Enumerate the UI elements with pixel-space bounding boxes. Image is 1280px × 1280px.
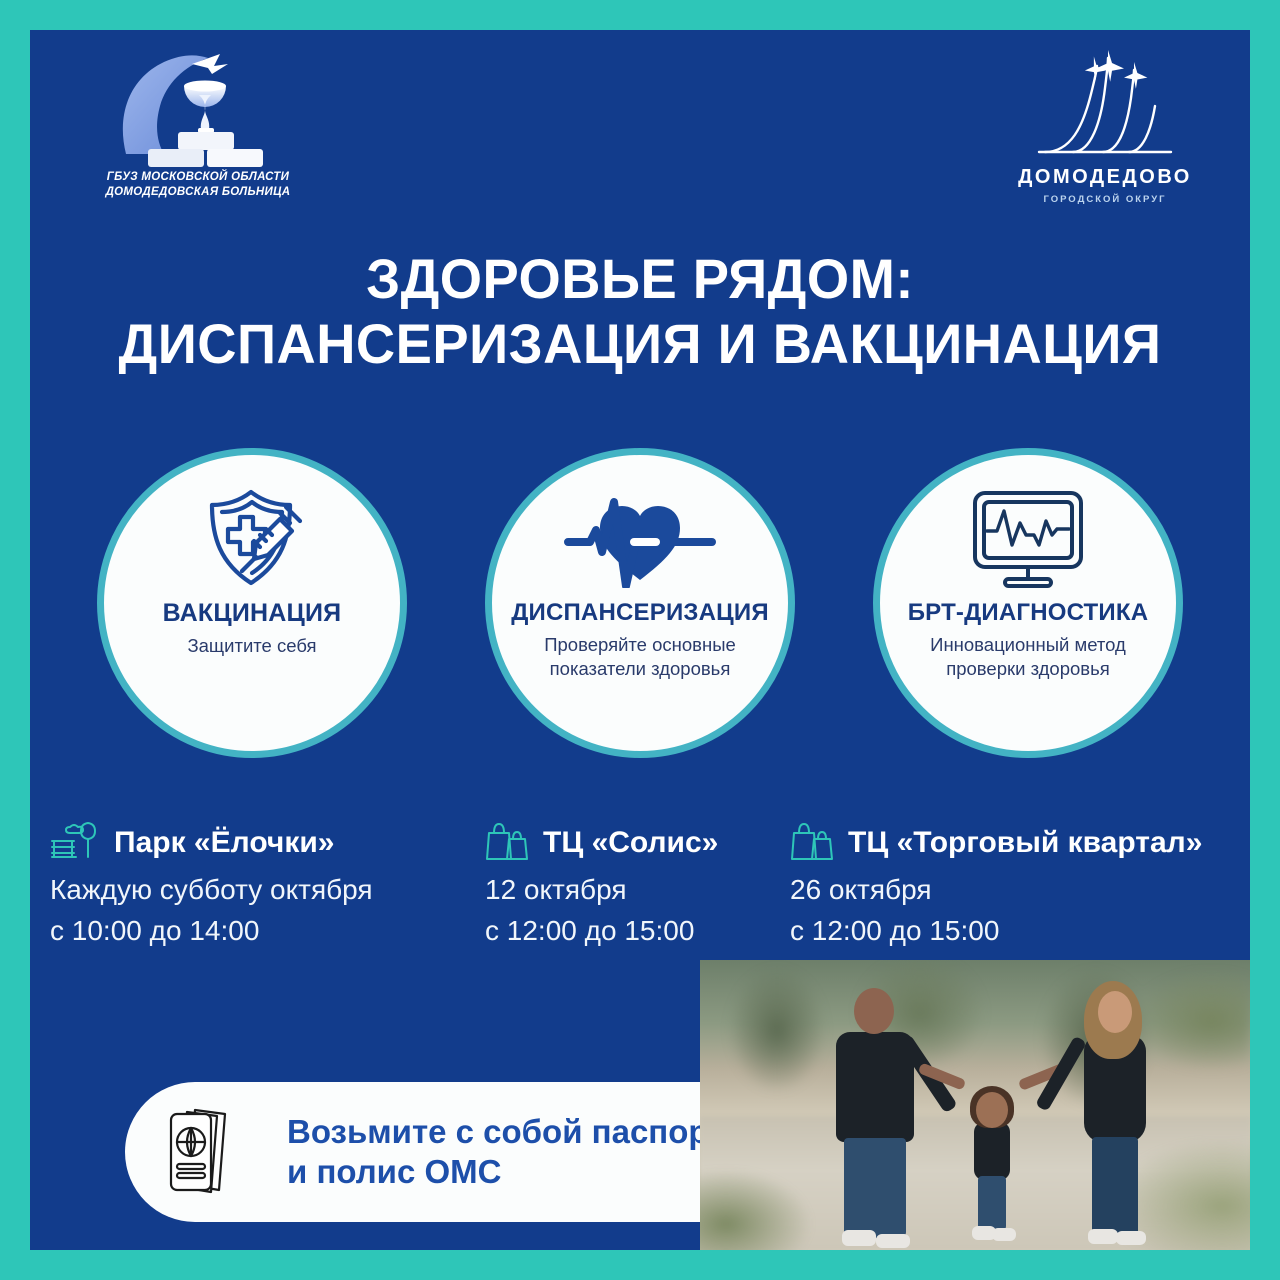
service-card-checkup: ДИСПАНСЕРИЗАЦИЯ Проверяйте основные пока…: [485, 448, 795, 758]
location-header: ТЦ «Торговый квартал»: [790, 820, 1230, 866]
location-header: Парк «Ёлочки»: [50, 820, 480, 866]
service-card-brt: БРТ-ДИАГНОСТИКА Инновационный метод пров…: [873, 448, 1183, 758]
hospital-caption-line-1: ГБУЗ МОСКОВСКОЙ ОБЛАСТИ: [78, 170, 318, 185]
service-subtitle: Проверяйте основные показатели здоровья: [515, 633, 765, 680]
location-date: 12 октября: [485, 870, 785, 911]
shopping-bags-icon: [485, 819, 531, 868]
page-title-line-2: ДИСПАНСЕРИЗАЦИЯ И ВАКЦИНАЦИЯ: [48, 313, 1231, 376]
service-subtitle-line-1: Инновационный метод: [903, 633, 1153, 657]
service-subtitle: Защитите себя: [127, 634, 377, 658]
banner-text-line-2: и полис ОМС: [287, 1152, 724, 1192]
domodedovo-subtitle: ГОРОДСКОЙ ОКРУГ: [1000, 194, 1210, 205]
location-time: с 10:00 до 14:00: [50, 911, 480, 952]
service-title: ДИСПАНСЕРИЗАЦИЯ: [511, 599, 769, 627]
hospital-logo: ГБУЗ МОСКОВСКОЙ ОБЛАСТИ ДОМОДЕДОВСКАЯ БО…: [78, 48, 318, 218]
shopping-bags-icon: [790, 819, 836, 868]
service-title: ВАКЦИНАЦИЯ: [163, 599, 342, 628]
locations-row: Парк «Ёлочки» Каждую субботу октября с 1…: [30, 820, 1250, 980]
service-subtitle-line-1: Защитите себя: [127, 634, 377, 658]
park-bench-tree-icon: [50, 819, 102, 868]
location-date: Каждую субботу октября: [50, 870, 480, 911]
location-name: Парк «Ёлочки»: [114, 826, 334, 860]
service-subtitle-line-1: Проверяйте основные: [515, 633, 765, 657]
domodedovo-logo: ДОМОДЕДОВО ГОРОДСКОЙ ОКРУГ: [1000, 48, 1210, 218]
passport-documents-icon: [159, 1100, 263, 1204]
service-card-vaccination: ВАКЦИНАЦИЯ Защитите себя: [97, 448, 407, 758]
service-title: БРТ-ДИАГНОСТИКА: [908, 599, 1149, 627]
family-walking-photo: [700, 960, 1250, 1250]
page-title-line-1: ЗДОРОВЬЕ РЯДОМ:: [48, 248, 1231, 311]
hospital-emblem-icon: [108, 48, 288, 168]
location-header: ТЦ «Солис»: [485, 820, 785, 866]
heart-pulse-icon: [556, 485, 724, 591]
domodedovo-planes-icon: [1025, 48, 1185, 168]
poster-root: ГБУЗ МОСКОВСКОЙ ОБЛАСТИ ДОМОДЕДОВСКАЯ БО…: [0, 0, 1280, 1280]
location-time: с 12:00 до 15:00: [485, 911, 785, 952]
service-subtitle-line-2: показатели здоровья: [515, 657, 765, 681]
location-item: ТЦ «Торговый квартал» 26 октября с 12:00…: [790, 820, 1230, 951]
location-date: 26 октября: [790, 870, 1230, 911]
location-name: ТЦ «Солис»: [543, 826, 718, 860]
location-item: Парк «Ёлочки» Каждую субботу октября с 1…: [50, 820, 480, 951]
service-subtitle: Инновационный метод проверки здоровья: [903, 633, 1153, 680]
hospital-caption-line-2: ДОМОДЕДОВСКАЯ БОЛЬНИЦА: [78, 185, 318, 200]
father-figure: [810, 980, 940, 1250]
monitor-ecg-icon: [967, 485, 1089, 591]
mother-figure: [1050, 975, 1180, 1250]
location-name: ТЦ «Торговый квартал»: [848, 826, 1202, 860]
page-title: ЗДОРОВЬЕ РЯДОМ: ДИСПАНСЕРИЗАЦИЯ И ВАКЦИН…: [30, 248, 1250, 375]
banner-text: Возьмите с собой паспорт и полис ОМС: [287, 1112, 724, 1193]
location-time: с 12:00 до 15:00: [790, 911, 1230, 952]
banner-text-line-1: Возьмите с собой паспорт: [287, 1112, 724, 1152]
hospital-logo-caption: ГБУЗ МОСКОВСКОЙ ОБЛАСТИ ДОМОДЕДОВСКАЯ БО…: [78, 170, 318, 199]
domodedovo-name: ДОМОДЕДОВО: [1000, 166, 1210, 189]
service-subtitle-line-2: проверки здоровья: [903, 657, 1153, 681]
location-item: ТЦ «Солис» 12 октября с 12:00 до 15:00: [485, 820, 785, 951]
services-row: ВАКЦИНАЦИЯ Защитите себя: [30, 448, 1250, 768]
poster-inner-panel: ГБУЗ МОСКОВСКОЙ ОБЛАСТИ ДОМОДЕДОВСКАЯ БО…: [30, 30, 1250, 1250]
shield-syringe-icon: [196, 485, 308, 591]
